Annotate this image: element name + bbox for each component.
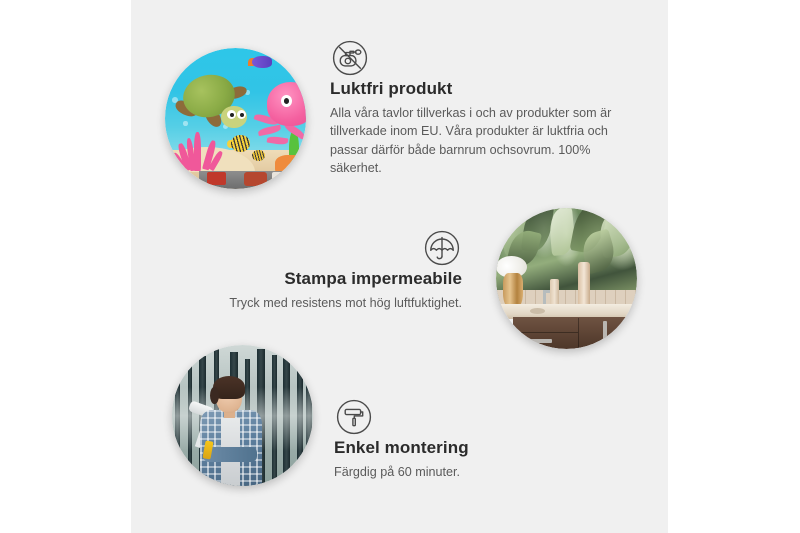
feature-block-easy-mounting: Enkel montering Färgdig på 60 minuter. [334, 397, 584, 481]
no-smell-spray-bottle-icon [330, 38, 370, 78]
feature-image-bathroom-tropical-wallpaper-thumbnail[interactable] [496, 208, 637, 349]
bathroom-scene [496, 208, 637, 349]
cabinet-handle [603, 321, 606, 341]
lower-photo-strip-detail [272, 172, 285, 185]
underwater-scene [165, 48, 306, 189]
lower-photo-strip-detail [244, 172, 267, 186]
coral [176, 128, 223, 170]
feature-description: Alla våra tavlor tillverkas i och av pro… [330, 104, 624, 178]
octopus-pupil [284, 98, 289, 104]
feature-description: Färgdig på 60 minuter. [334, 463, 584, 481]
feature-title: Enkel montering [334, 437, 584, 459]
cabinet-seam [578, 318, 579, 349]
lower-photo-strip-detail [207, 172, 225, 185]
umbrella-icon [422, 228, 462, 268]
feature-image-underwater-cartoon-wallpaper-thumbnail[interactable] [165, 48, 306, 189]
paint-roller-icon [334, 397, 374, 437]
feature-title: Luktfri produkt [330, 78, 624, 100]
bathroom-bottle [550, 279, 560, 307]
forest-installer-scene [172, 345, 313, 486]
yellow-fish-small [252, 150, 265, 161]
feature-block-odourless: Luktfri produkt Alla våra tavlor tillver… [330, 38, 624, 178]
feature-image-forest-wallpaper-installer-thumbnail[interactable] [172, 345, 313, 486]
blue-fish [252, 56, 272, 67]
cabinet-handle [530, 339, 553, 343]
bathroom-bottle [578, 262, 591, 307]
cabinet-seam [513, 332, 578, 333]
bubble-icon [183, 121, 187, 125]
person-hair-side [210, 387, 218, 404]
faucet-body [543, 290, 547, 306]
yellow-fish [231, 135, 249, 152]
feature-description: Tryck med resistens mot hög luftfuktighe… [216, 294, 462, 312]
feature-title: Stampa impermeabile [216, 268, 462, 290]
feature-block-waterproof: Stampa impermeabile Tryck med resistens … [216, 228, 462, 312]
